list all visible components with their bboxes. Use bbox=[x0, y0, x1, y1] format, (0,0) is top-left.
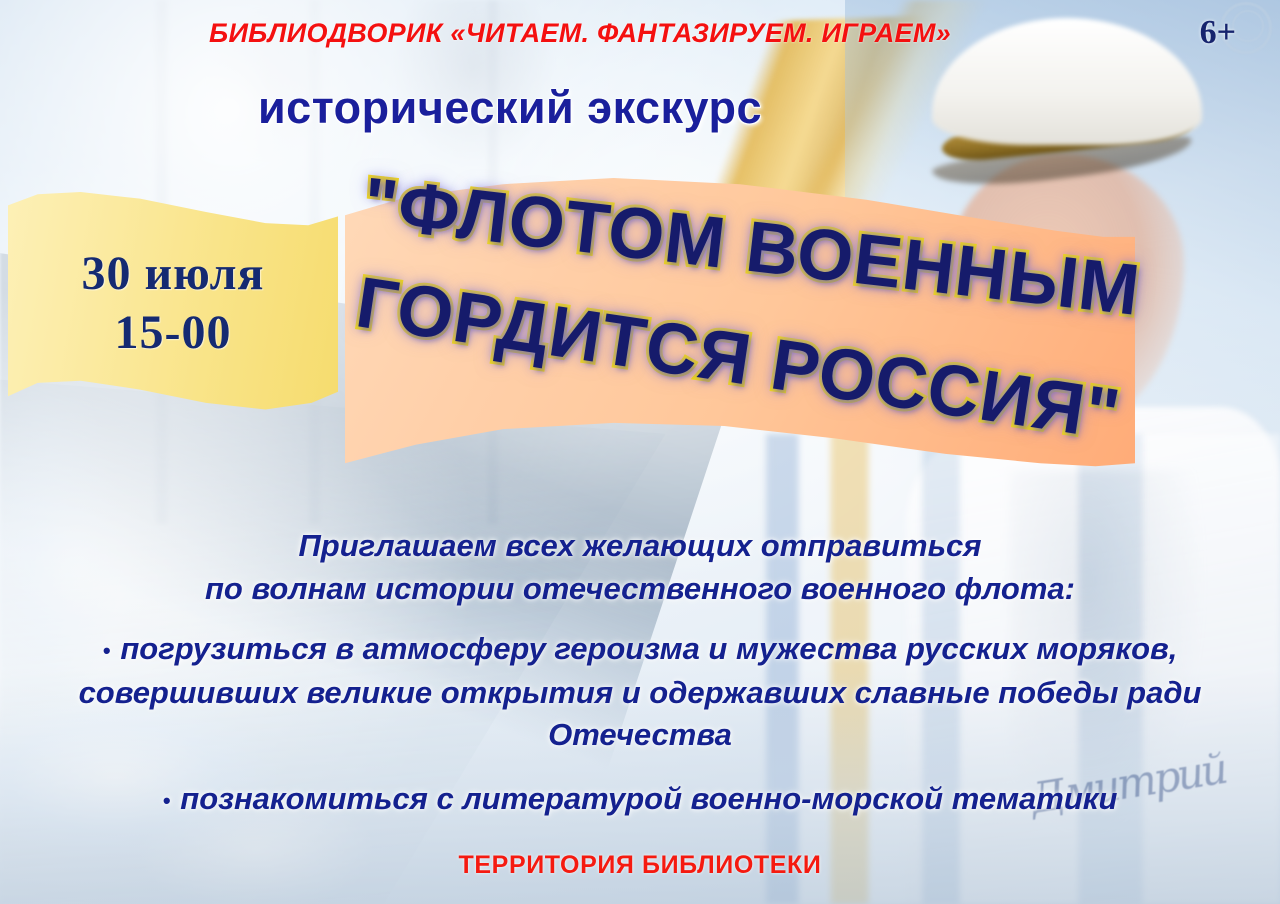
bullet-dot-icon: • bbox=[103, 638, 111, 663]
bullet-1-line-3: Отечества bbox=[0, 714, 1280, 756]
list-item: •погрузиться в атмосферу героизма и муже… bbox=[0, 628, 1280, 756]
bullet-2-line-1: •познакомиться с литературой военно-морс… bbox=[0, 778, 1280, 822]
bullet-1-text-1: погрузиться в атмосферу героизма и мужес… bbox=[120, 631, 1177, 666]
venue-footer: ТЕРРИТОРИЯ БИБЛИОТЕКИ bbox=[0, 851, 1280, 880]
body-copy: Приглашаем всех желающих отправиться по … bbox=[0, 524, 1280, 822]
poster-content: БИБЛИОДВОРИК «ЧИТАЕМ. ФАНТАЗИРУЕМ. ИГРАЕ… bbox=[0, 0, 1280, 904]
poster-canvas: Дмитрий БИБЛИОДВОРИК «ЧИТАЕМ. ФАНТАЗИРУЕ… bbox=[0, 0, 1280, 904]
bullet-1-line-2: совершивших великие открытия и одержавши… bbox=[0, 672, 1280, 714]
bullet-2-text-1: познакомиться с литературой военно-морск… bbox=[180, 781, 1117, 816]
bullet-list: •погрузиться в атмосферу героизма и муже… bbox=[0, 628, 1280, 822]
bullet-1-line-1: •погрузиться в атмосферу героизма и муже… bbox=[0, 628, 1280, 672]
bullet-dot-icon: • bbox=[163, 788, 171, 813]
program-kicker: БИБЛИОДВОРИК «ЧИТАЕМ. ФАНТАЗИРУЕМ. ИГРАЕ… bbox=[0, 18, 1280, 49]
intro-line-1: Приглашаем всех желающих отправиться bbox=[0, 524, 1280, 567]
date-ribbon-shape bbox=[8, 192, 338, 414]
list-item: •познакомиться с литературой военно-морс… bbox=[0, 778, 1280, 822]
intro-line-2: по волнам истории отечественного военног… bbox=[0, 567, 1280, 610]
title-ribbon-shape bbox=[345, 178, 1135, 488]
age-rating-badge: 6+ bbox=[1200, 14, 1236, 52]
event-subtitle: исторический экскурс bbox=[0, 82, 1280, 134]
